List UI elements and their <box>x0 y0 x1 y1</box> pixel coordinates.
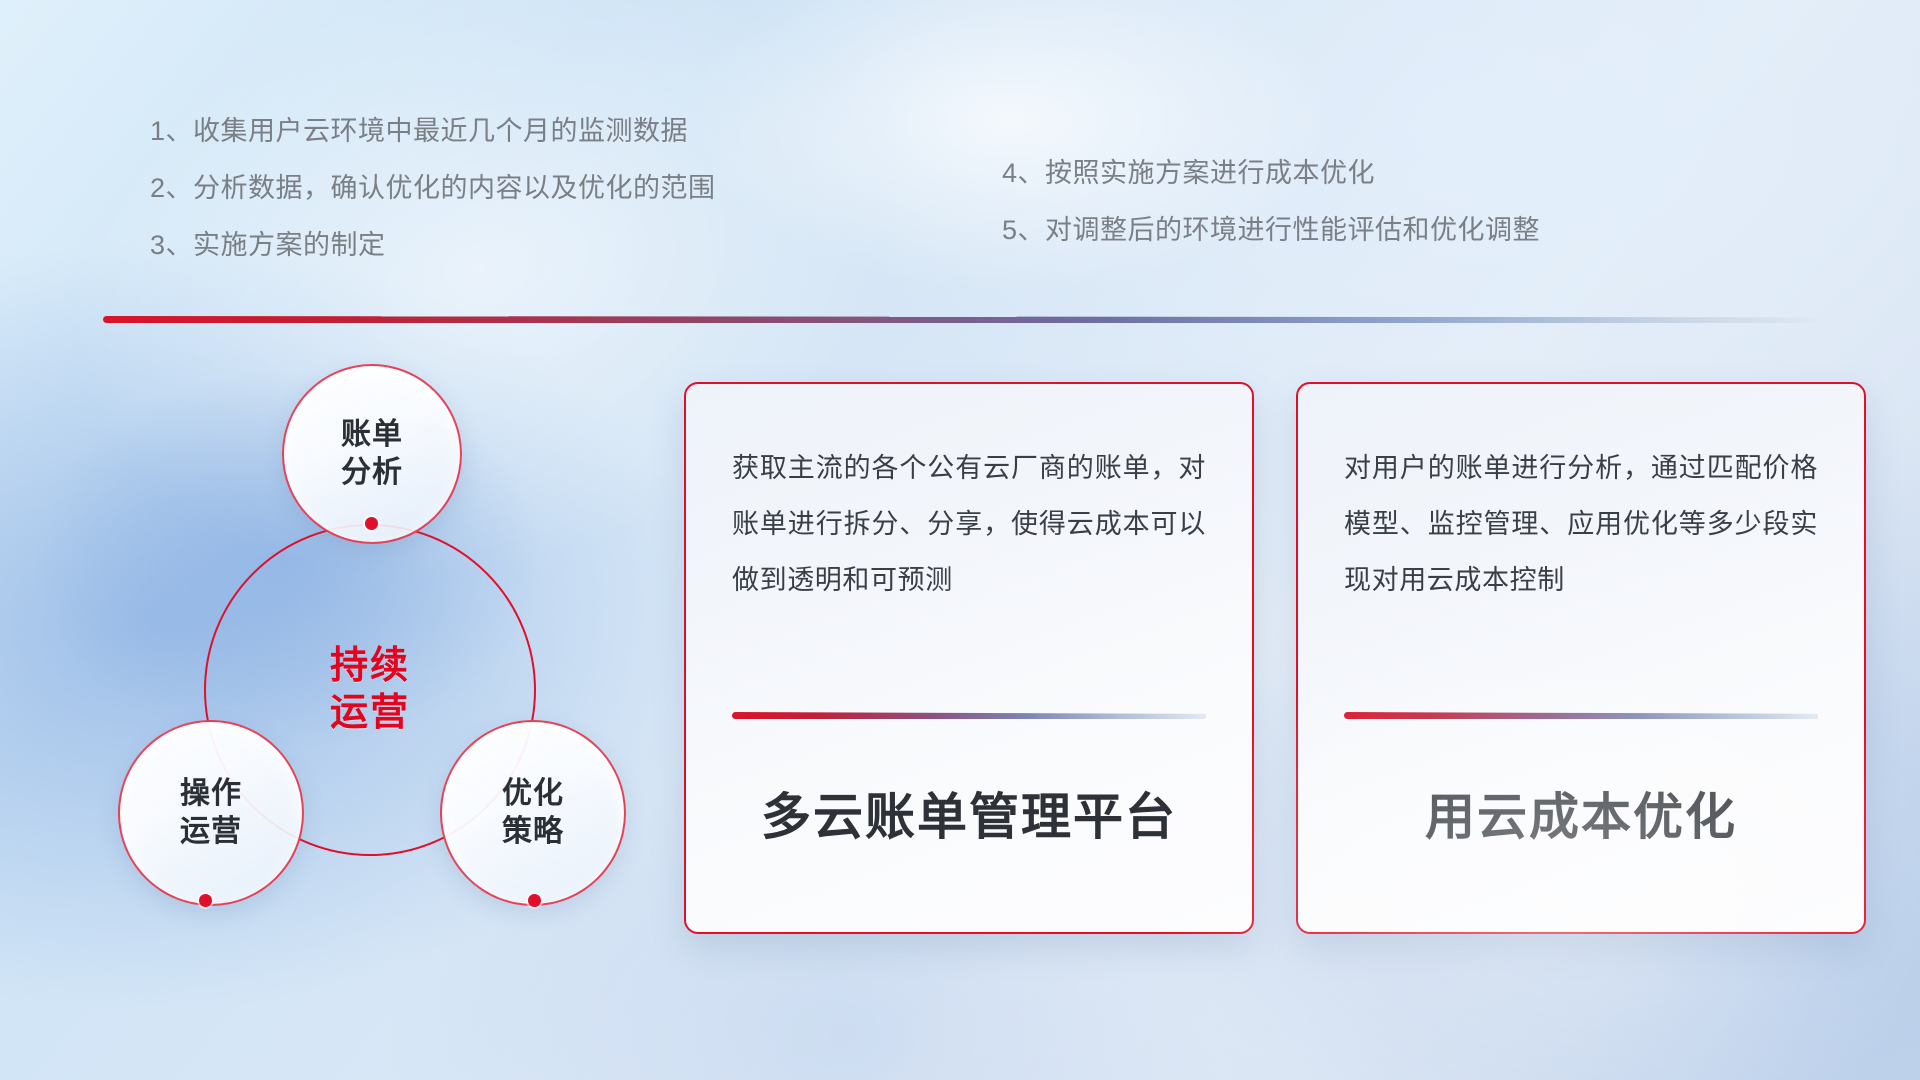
card-cloud-cost-optimization-title: 用云成本优化 <box>1344 777 1818 849</box>
slide-canvas: 1、收集用户云环境中最近几个月的监测数据 2、分析数据，确认优化的内容以及优化的… <box>0 0 1920 1080</box>
steps-list-right: 4、按照实施方案进行成本优化 5、对调整后的环境进行性能评估和优化调整 <box>1002 160 1540 244</box>
section-divider <box>103 316 1817 323</box>
diagram-node-optimization-strategy[interactable]: 优化 策略 <box>440 720 626 906</box>
card-cloud-cost-optimization-rule <box>1344 712 1818 719</box>
diagram-connector-dot-top <box>365 517 378 530</box>
continuous-operation-diagram: 持续 运营 账单 分析 操作 运营 优化 策略 <box>100 352 640 952</box>
card-multicloud-billing[interactable]: 获取主流的各个公有云厂商的账单，对账单进行拆分、分享，使得云成本可以做到透明和可… <box>684 382 1254 934</box>
diagram-node-operations-line1: 操作 <box>180 775 242 813</box>
diagram-node-operations-line2: 运营 <box>180 813 242 851</box>
diagram-node-operations[interactable]: 操作 运营 <box>118 720 304 906</box>
diagram-node-optimization-strategy-line2: 策略 <box>502 813 564 851</box>
diagram-node-bill-analysis-line1: 账单 <box>341 416 403 454</box>
card-multicloud-billing-body: 获取主流的各个公有云厂商的账单，对账单进行拆分、分享，使得云成本可以做到透明和可… <box>732 440 1206 672</box>
card-cloud-cost-optimization[interactable]: 对用户的账单进行分析，通过匹配价格模型、监控管理、应用优化等多少段实现对用云成本… <box>1296 382 1866 934</box>
diagram-center-line2: 运营 <box>330 690 410 737</box>
diagram-connector-dot-left <box>199 894 212 907</box>
step-item-1: 1、收集用户云环境中最近几个月的监测数据 <box>150 118 716 145</box>
card-cloud-cost-optimization-body: 对用户的账单进行分析，通过匹配价格模型、监控管理、应用优化等多少段实现对用云成本… <box>1344 440 1818 672</box>
steps-list-left: 1、收集用户云环境中最近几个月的监测数据 2、分析数据，确认优化的内容以及优化的… <box>150 118 716 259</box>
diagram-node-bill-analysis-line2: 分析 <box>341 454 403 492</box>
card-multicloud-billing-rule <box>732 712 1206 719</box>
diagram-node-optimization-strategy-line1: 优化 <box>502 775 564 813</box>
diagram-connector-dot-right <box>528 894 541 907</box>
step-item-4: 4、按照实施方案进行成本优化 <box>1002 160 1540 187</box>
step-item-2: 2、分析数据，确认优化的内容以及优化的范围 <box>150 175 716 202</box>
step-item-3: 3、实施方案的制定 <box>150 232 716 259</box>
card-multicloud-billing-title: 多云账单管理平台 <box>732 777 1206 849</box>
diagram-center-line1: 持续 <box>330 643 410 690</box>
step-item-5: 5、对调整后的环境进行性能评估和优化调整 <box>1002 217 1540 244</box>
